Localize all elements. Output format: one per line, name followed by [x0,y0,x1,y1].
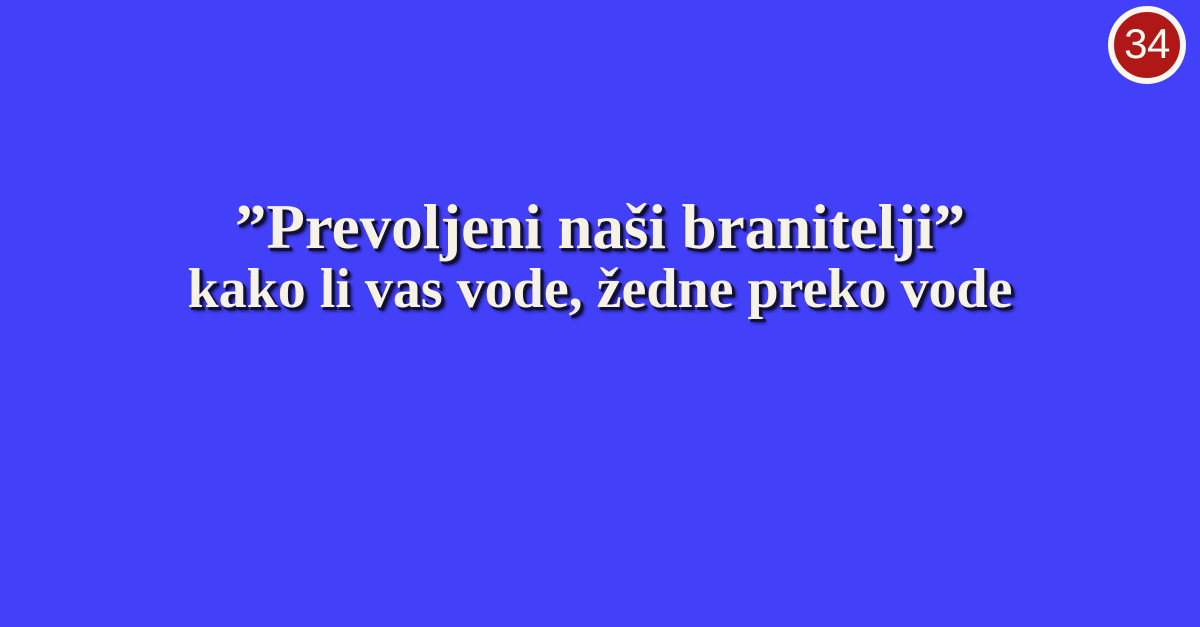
caption-block: ”Prevoljeni naši branitelji” kako li vas… [0,193,1200,320]
counter-badge: 34 [1108,6,1186,84]
counter-badge-number: 34 [1124,23,1170,65]
meme-image-canvas: 34 ”Prevoljeni naši branitelji” kako li … [0,0,1200,627]
caption-line-primary: ”Prevoljeni naši branitelji” [20,193,1180,261]
caption-line-secondary: kako li vas vode, žedne preko vode [20,259,1180,319]
